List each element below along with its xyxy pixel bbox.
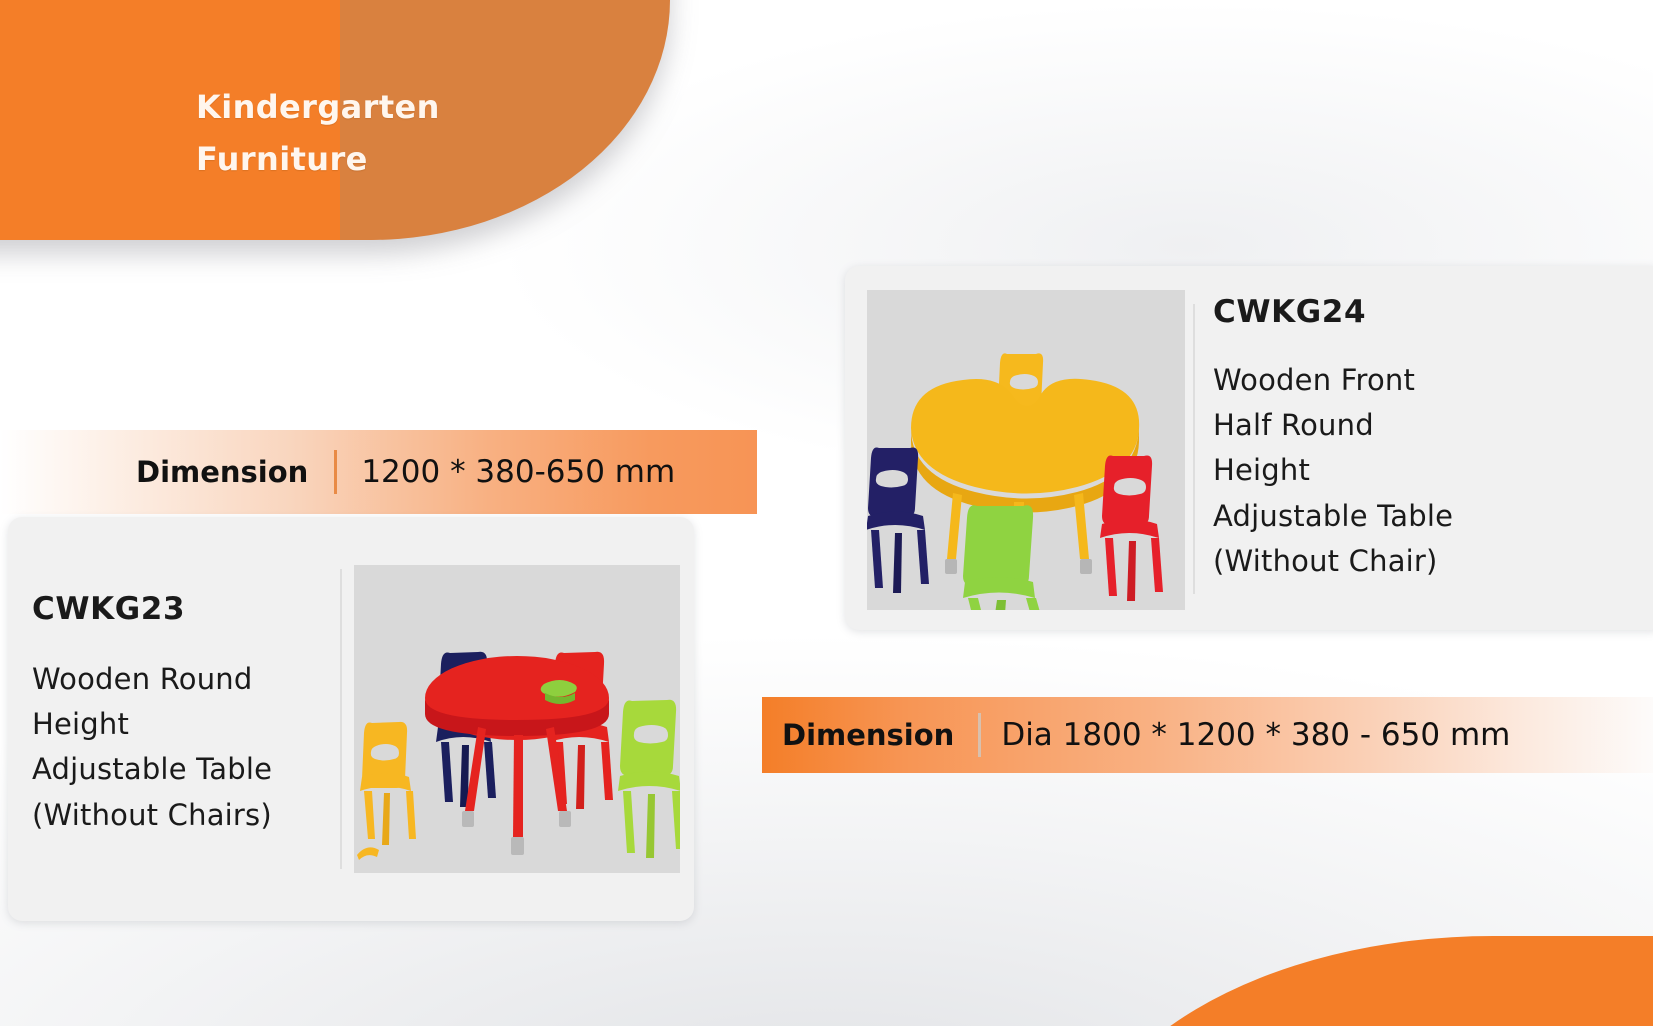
catalog-page: Kindergarten Furniture Dimension 1200 * … bbox=[0, 0, 1653, 1026]
dimension-separator bbox=[334, 450, 337, 494]
dimension-bar-cwkg24: Dimension Dia 1800 * 1200 * 380 - 650 mm bbox=[762, 697, 1653, 773]
dimension-value: 1200 * 380-650 mm bbox=[361, 454, 675, 490]
dimension-label: Dimension bbox=[136, 455, 308, 489]
card-divider-cwkg24 bbox=[1193, 304, 1195, 594]
page-title: Kindergarten Furniture bbox=[196, 82, 556, 186]
round-table-illustration bbox=[354, 565, 680, 873]
yellow-chair-icon bbox=[357, 722, 416, 860]
footer-orange-accent bbox=[1073, 936, 1653, 1026]
dimension-value: Dia 1800 * 1200 * 380 - 650 mm bbox=[1001, 717, 1510, 753]
product-description-cwkg24: Wooden Front Half Round Height Adjustabl… bbox=[1213, 358, 1653, 584]
product-card-cwkg23[interactable]: CWKG23 Wooden Round Height Adjustable Ta… bbox=[8, 517, 694, 921]
product-code-cwkg24: CWKG24 bbox=[1213, 294, 1366, 330]
product-image-cwkg24 bbox=[867, 290, 1185, 610]
red-chair-icon bbox=[1100, 455, 1163, 601]
green-chair-icon bbox=[618, 700, 680, 858]
green-chair-front-icon bbox=[963, 505, 1040, 610]
product-image-cwkg23 bbox=[354, 565, 680, 873]
product-card-cwkg24[interactable]: CWKG24 Wooden Front Half Round Height Ad… bbox=[845, 266, 1653, 630]
dimension-separator bbox=[978, 713, 981, 757]
dimension-label: Dimension bbox=[782, 718, 954, 752]
product-description-cwkg23: Wooden Round Height Adjustable Table (Wi… bbox=[32, 657, 344, 838]
card-divider-cwkg23 bbox=[340, 569, 342, 869]
dimension-bar-cwkg23: Dimension 1200 * 380-650 mm bbox=[0, 430, 757, 514]
half-round-table-illustration bbox=[867, 290, 1185, 610]
product-code-cwkg23: CWKG23 bbox=[32, 591, 185, 627]
